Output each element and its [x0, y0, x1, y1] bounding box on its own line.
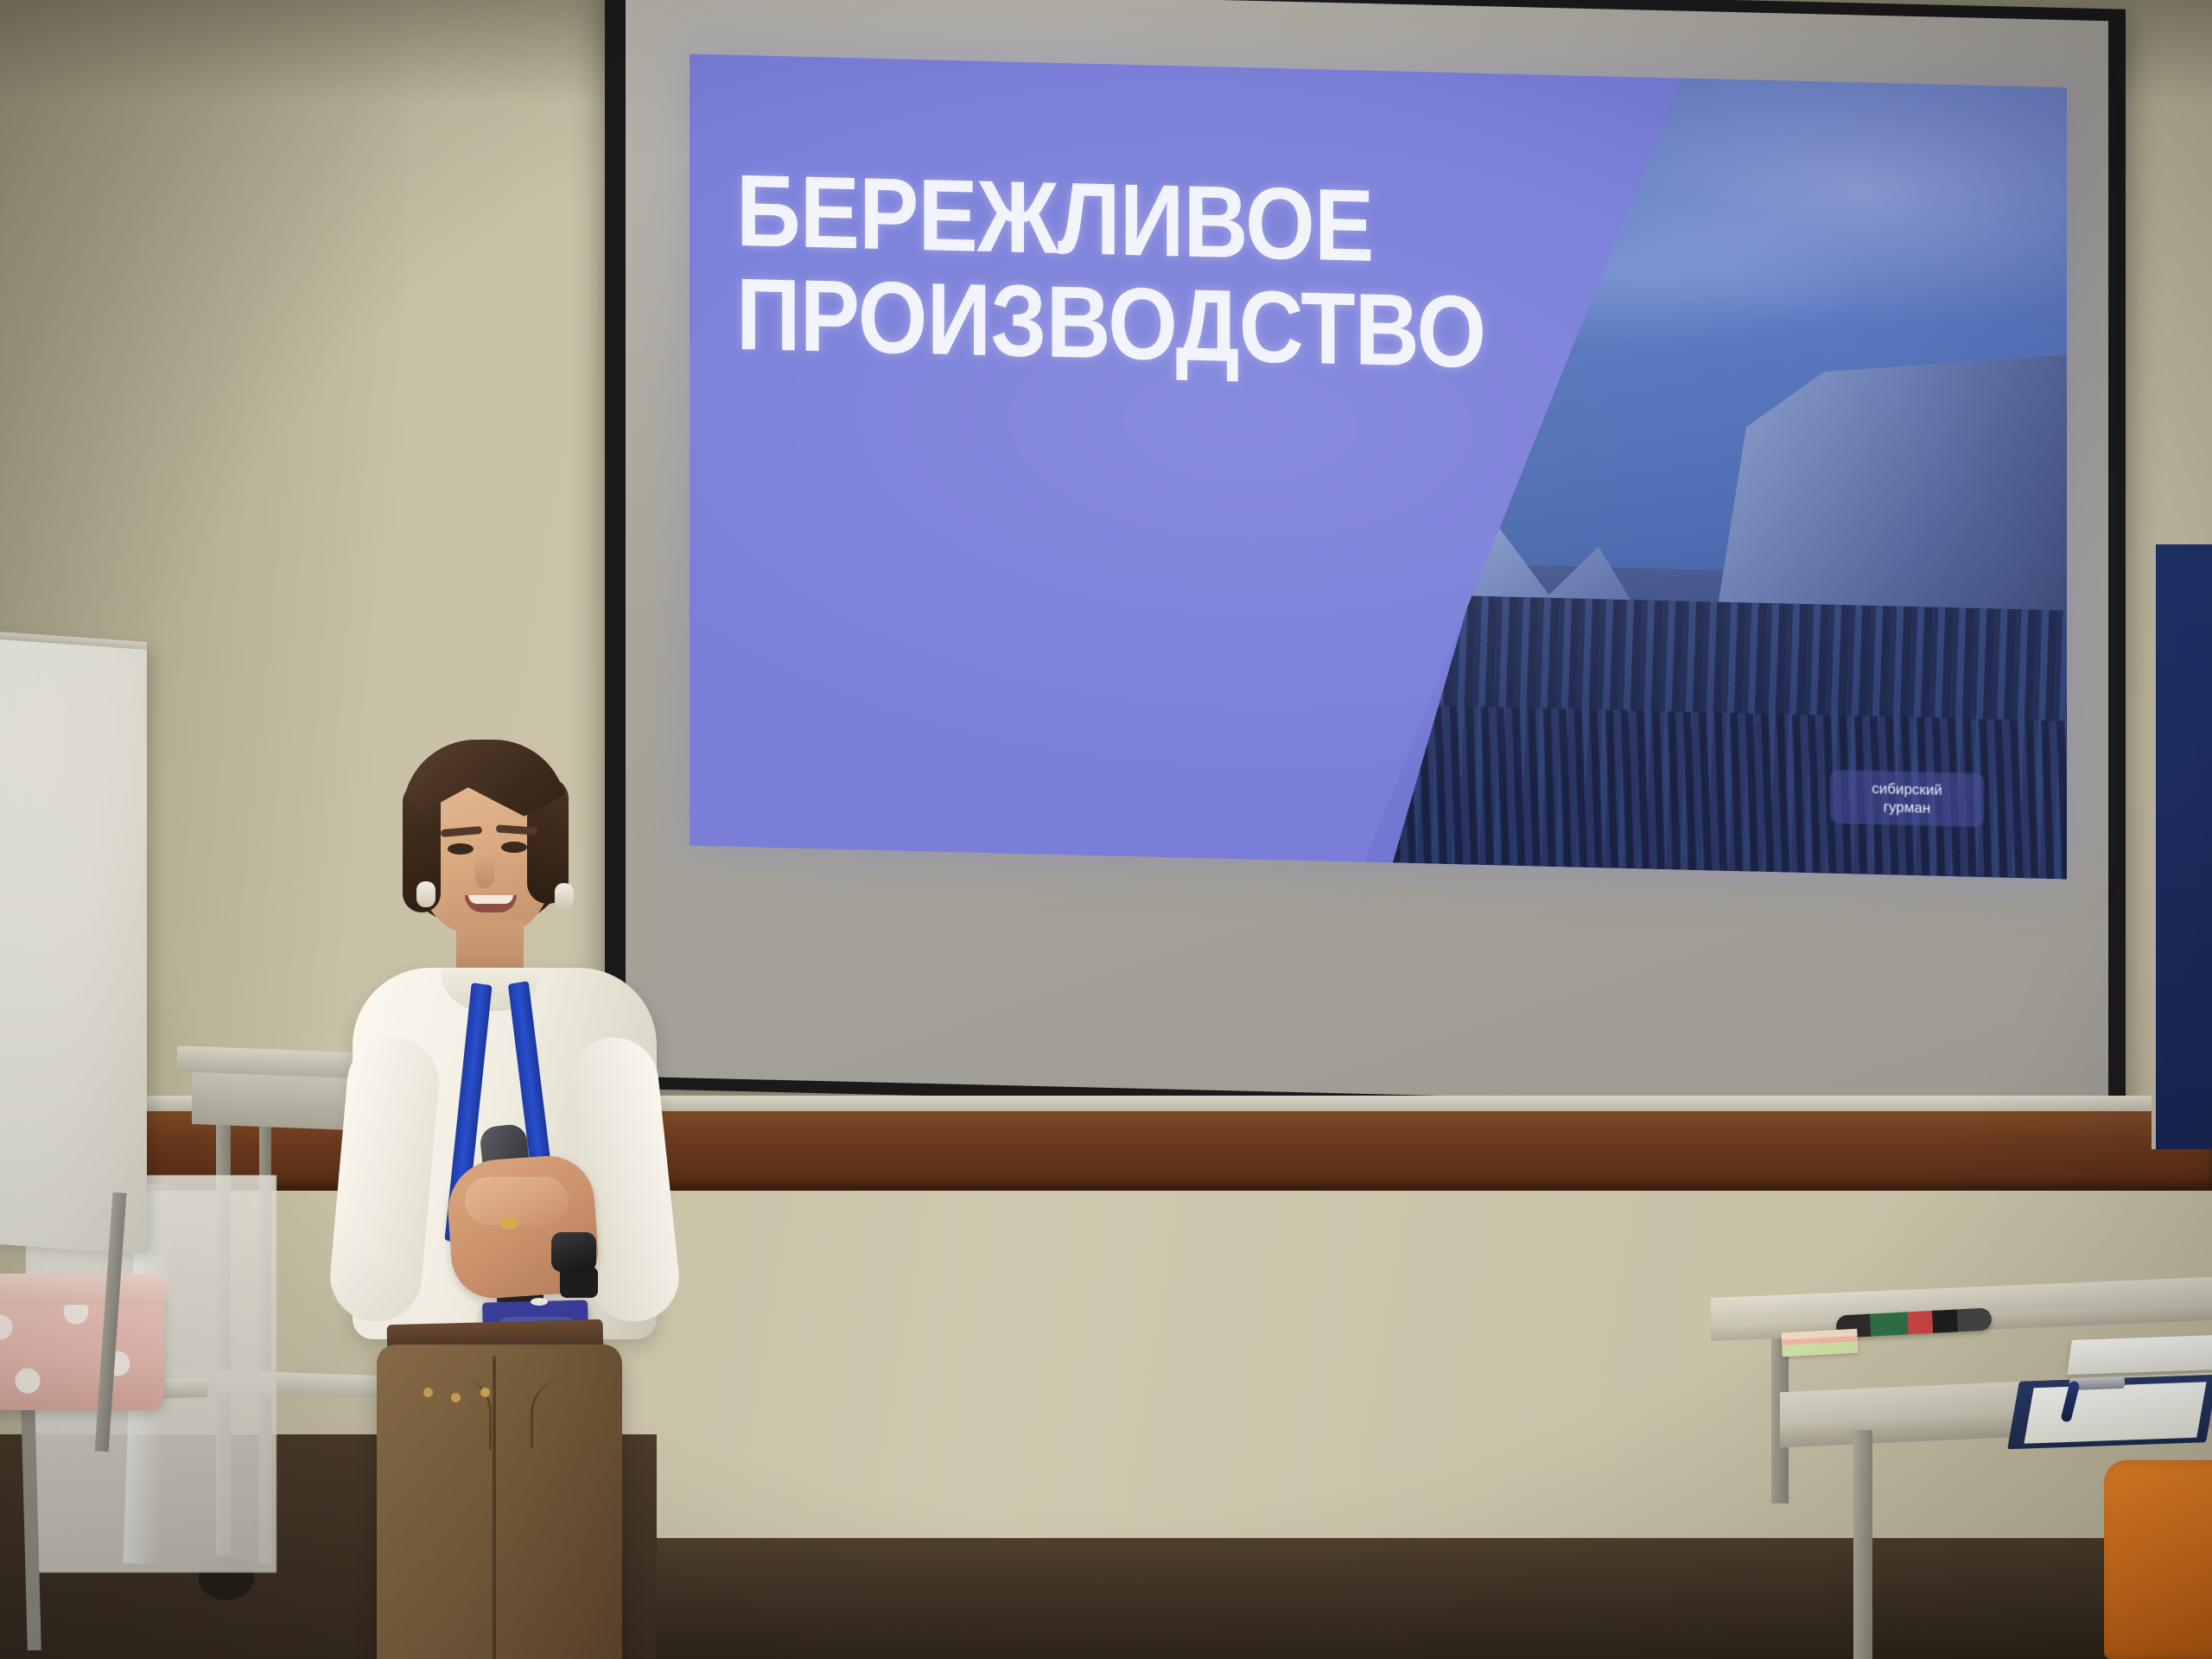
hand-highlight: [465, 1177, 569, 1225]
ring: [501, 1218, 517, 1229]
nose: [475, 854, 494, 888]
pants-rivet: [480, 1388, 490, 1397]
slide-logo-line-1: сибирский: [1872, 779, 1942, 799]
eye-left: [448, 843, 474, 855]
teeth: [468, 895, 513, 904]
slide-title-line-2: ПРОИЗВОДСТВО: [736, 263, 1329, 381]
slide-logo-line-2: гурман: [1884, 798, 1931, 817]
pants-pocket-right: [531, 1379, 607, 1448]
eye-right: [501, 842, 527, 853]
paper-sheet: [2067, 1335, 2212, 1375]
pants-rivet: [451, 1393, 461, 1402]
navy-notice-board: [2152, 544, 2212, 1149]
slide-title: БЕРЕЖЛИВОЕ ПРОИЗВОДСТВО: [736, 159, 1329, 381]
earring-left: [416, 881, 435, 907]
front-table-leg: [1853, 1430, 1872, 1659]
hatbox-lid: [0, 1274, 169, 1305]
clipboard-paper: [2024, 1382, 2206, 1443]
earring-right: [555, 883, 574, 909]
presenter: сибирский гурман Ирина мы готовим с любо…: [320, 752, 683, 1659]
pants-pocket-left: [403, 1377, 492, 1450]
sticky-notes: [1781, 1329, 1858, 1357]
slide-brand-logo: сибирский гурман: [1830, 770, 1984, 827]
pants-rivet: [423, 1388, 433, 1397]
presentation-slide: БЕРЕЖЛИВОЕ ПРОИЗВОДСТВО сибирский гурман: [690, 54, 2067, 880]
pants-seam: [493, 1357, 496, 1659]
smartwatch: [551, 1232, 596, 1272]
badge-hole: [531, 1298, 548, 1306]
orange-chair: [2104, 1460, 2212, 1659]
photo-scene: БЕРЕЖЛИВОЕ ПРОИЗВОДСТВО сибирский гурман: [0, 0, 2212, 1659]
flipchart-paper: [0, 638, 147, 1255]
